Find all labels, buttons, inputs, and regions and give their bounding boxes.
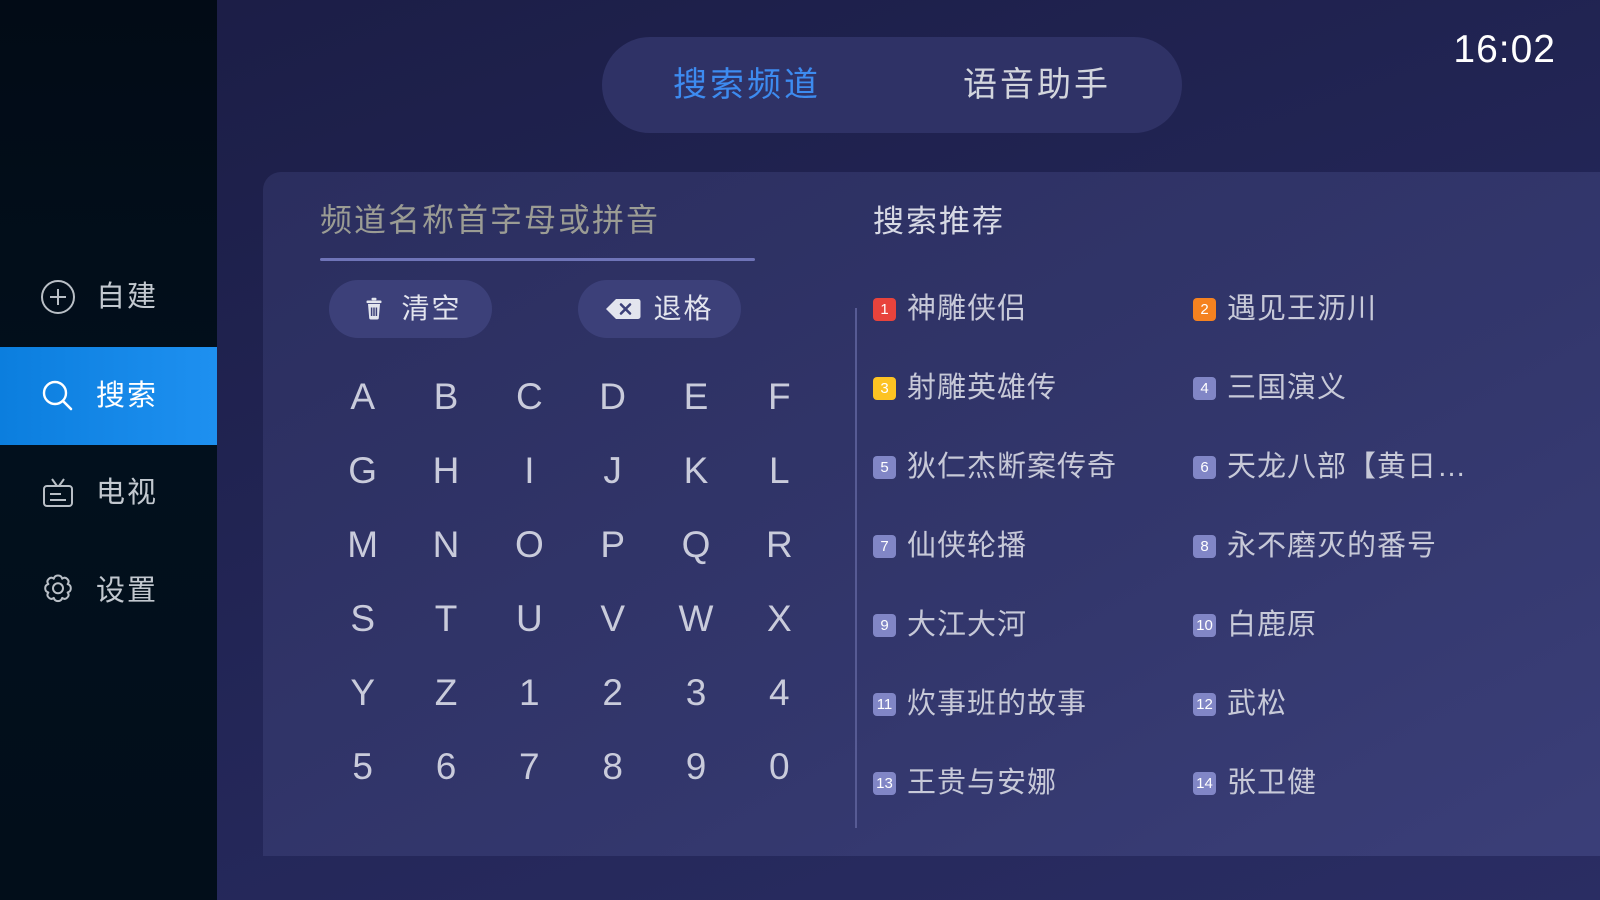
key-4[interactable]: 4 xyxy=(738,668,821,716)
key-0[interactable]: 0 xyxy=(738,742,821,790)
tab-voice-assistant[interactable]: 语音助手 xyxy=(892,68,1182,102)
vertical-divider xyxy=(855,308,857,828)
key-u[interactable]: U xyxy=(488,594,571,642)
recommendation-rank-badge: 9 xyxy=(873,614,896,637)
recommendation-label: 王贵与安娜 xyxy=(907,769,1057,798)
key-t[interactable]: T xyxy=(404,594,487,642)
clear-button[interactable]: 清空 xyxy=(329,280,492,338)
key-1[interactable]: 1 xyxy=(488,668,571,716)
key-9[interactable]: 9 xyxy=(654,742,737,790)
sidebar-label-search: 搜索 xyxy=(96,382,158,411)
key-p[interactable]: P xyxy=(571,520,654,568)
key-8[interactable]: 8 xyxy=(571,742,654,790)
search-input-placeholder: 频道名称首字母或拼音 xyxy=(320,200,755,240)
key-l[interactable]: L xyxy=(738,446,821,494)
recommendations-section: 搜索推荐 1神雕侠侣2遇见王沥川3射雕英雄传4三国演义5狄仁杰断案传奇6天龙八部… xyxy=(873,206,1573,799)
backspace-button-label: 退格 xyxy=(653,295,713,323)
backspace-icon xyxy=(605,294,641,324)
sidebar: 自建 搜索 电视 xyxy=(0,0,217,900)
recommendation-rank-badge: 3 xyxy=(873,377,896,400)
recommendation-item[interactable]: 13王贵与安娜 xyxy=(873,767,1193,799)
recommendation-label: 炊事班的故事 xyxy=(907,690,1087,719)
recommendation-item[interactable]: 9大江大河 xyxy=(873,609,1193,641)
trash-icon xyxy=(359,294,389,324)
recommendation-item[interactable]: 10白鹿原 xyxy=(1193,609,1573,641)
recommendation-item[interactable]: 3射雕英雄传 xyxy=(873,372,1193,404)
key-x[interactable]: X xyxy=(738,594,821,642)
sidebar-item-tv[interactable]: 电视 xyxy=(0,444,217,542)
recommendation-label: 神雕侠侣 xyxy=(907,295,1027,324)
recommendation-label: 大江大河 xyxy=(907,611,1027,640)
tab-bar: 搜索频道 语音助手 xyxy=(602,37,1182,133)
recommendation-rank-badge: 8 xyxy=(1193,535,1216,558)
recommendation-item[interactable]: 7仙侠轮播 xyxy=(873,530,1193,562)
recommendation-rank-badge: 1 xyxy=(873,298,896,321)
plus-circle-icon xyxy=(38,277,78,317)
key-d[interactable]: D xyxy=(571,372,654,420)
recommendation-label: 遇见王沥川 xyxy=(1227,295,1377,324)
backspace-button[interactable]: 退格 xyxy=(578,280,741,338)
recommendation-rank-badge: 7 xyxy=(873,535,896,558)
sidebar-item-settings[interactable]: 设置 xyxy=(0,542,217,640)
recommendation-item[interactable]: 14张卫健 xyxy=(1193,767,1573,799)
key-2[interactable]: 2 xyxy=(571,668,654,716)
sidebar-label-settings: 设置 xyxy=(96,577,158,606)
key-w[interactable]: W xyxy=(654,594,737,642)
keyboard-actions: 清空 退格 xyxy=(329,280,807,338)
clock: 16:02 xyxy=(1453,28,1556,72)
key-5[interactable]: 5 xyxy=(321,742,404,790)
recommendation-label: 白鹿原 xyxy=(1227,611,1317,640)
tab-search-channel[interactable]: 搜索频道 xyxy=(602,68,892,102)
recommendation-item[interactable]: 6天龙八部【黄日… xyxy=(1193,451,1573,483)
key-b[interactable]: B xyxy=(404,372,487,420)
key-7[interactable]: 7 xyxy=(488,742,571,790)
tv-search-screen: 自建 搜索 电视 xyxy=(0,0,1600,900)
search-input[interactable]: 频道名称首字母或拼音 xyxy=(320,200,755,261)
key-z[interactable]: Z xyxy=(404,668,487,716)
sidebar-label-self-built: 自建 xyxy=(96,283,158,312)
key-j[interactable]: J xyxy=(571,446,654,494)
key-c[interactable]: C xyxy=(488,372,571,420)
key-s[interactable]: S xyxy=(321,594,404,642)
recommendation-label: 张卫健 xyxy=(1227,769,1317,798)
recommendation-label: 永不磨灭的番号 xyxy=(1227,532,1437,561)
recommendation-rank-badge: 14 xyxy=(1193,772,1216,795)
key-e[interactable]: E xyxy=(654,372,737,420)
key-6[interactable]: 6 xyxy=(404,742,487,790)
recommendation-label: 仙侠轮播 xyxy=(907,532,1027,561)
key-y[interactable]: Y xyxy=(321,668,404,716)
recommendation-rank-badge: 13 xyxy=(873,772,896,795)
key-a[interactable]: A xyxy=(321,372,404,420)
sidebar-item-search[interactable]: 搜索 xyxy=(0,347,217,445)
recommendation-item[interactable]: 12武松 xyxy=(1193,688,1573,720)
recommendation-item[interactable]: 2遇见王沥川 xyxy=(1193,293,1573,325)
content-panel: 频道名称首字母或拼音 清空 xyxy=(263,172,1600,856)
tv-icon xyxy=(38,473,78,513)
key-n[interactable]: N xyxy=(404,520,487,568)
on-screen-keyboard: ABCDEFGHIJKLMNOPQRSTUVWXYZ1234567890 xyxy=(321,372,821,790)
clear-button-label: 清空 xyxy=(401,295,461,323)
recommendation-item[interactable]: 8永不磨灭的番号 xyxy=(1193,530,1573,562)
recommendation-rank-badge: 12 xyxy=(1193,693,1216,716)
search-input-underline xyxy=(320,258,755,261)
key-m[interactable]: M xyxy=(321,520,404,568)
key-q[interactable]: Q xyxy=(654,520,737,568)
recommendation-rank-badge: 4 xyxy=(1193,377,1216,400)
recommendation-label: 武松 xyxy=(1227,690,1287,719)
recommendation-label: 狄仁杰断案传奇 xyxy=(907,453,1117,482)
sidebar-label-tv: 电视 xyxy=(96,479,158,508)
recommendation-label: 三国演义 xyxy=(1227,374,1347,403)
key-v[interactable]: V xyxy=(571,594,654,642)
sidebar-item-self-built[interactable]: 自建 xyxy=(0,248,217,346)
recommendation-rank-badge: 2 xyxy=(1193,298,1216,321)
key-3[interactable]: 3 xyxy=(654,668,737,716)
search-icon xyxy=(38,376,78,416)
recommendation-item[interactable]: 1神雕侠侣 xyxy=(873,293,1193,325)
recommendation-rank-badge: 11 xyxy=(873,693,896,716)
recommendation-label: 射雕英雄传 xyxy=(907,374,1057,403)
key-k[interactable]: K xyxy=(654,446,737,494)
recommendation-item[interactable]: 5狄仁杰断案传奇 xyxy=(873,451,1193,483)
key-f[interactable]: F xyxy=(738,372,821,420)
gear-icon xyxy=(38,571,78,611)
key-i[interactable]: I xyxy=(488,446,571,494)
key-r[interactable]: R xyxy=(738,520,821,568)
recommendation-rank-badge: 5 xyxy=(873,456,896,479)
recommendations-grid: 1神雕侠侣2遇见王沥川3射雕英雄传4三国演义5狄仁杰断案传奇6天龙八部【黄日…7… xyxy=(873,293,1573,799)
recommendations-title: 搜索推荐 xyxy=(873,206,1573,237)
recommendation-rank-badge: 6 xyxy=(1193,456,1216,479)
recommendation-label: 天龙八部【黄日… xyxy=(1227,453,1467,482)
key-g[interactable]: G xyxy=(321,446,404,494)
recommendation-item[interactable]: 4三国演义 xyxy=(1193,372,1573,404)
key-o[interactable]: O xyxy=(488,520,571,568)
recommendation-rank-badge: 10 xyxy=(1193,614,1216,637)
key-h[interactable]: H xyxy=(404,446,487,494)
recommendation-item[interactable]: 11炊事班的故事 xyxy=(873,688,1193,720)
